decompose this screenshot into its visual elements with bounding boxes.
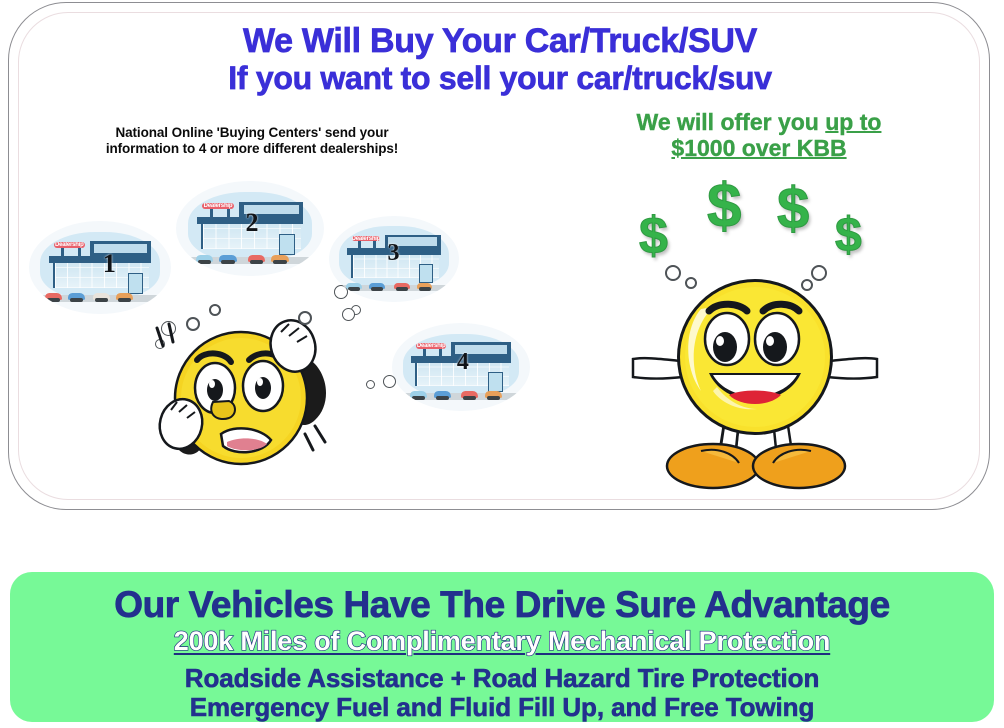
sign-post-right <box>439 347 442 357</box>
dealership-sign: Dealership <box>202 203 234 209</box>
dealership-sign: Dealership <box>352 236 380 241</box>
banner-benefits-line-2: Emergency Fuel and Fluid Fill Up, and Fr… <box>10 692 994 722</box>
drive-sure-advantage-banner: Our Vehicles Have The Drive Sure Advanta… <box>10 572 994 722</box>
dealership-bubble-4: Dealership 4 <box>392 323 530 411</box>
worried-emoji-svg <box>149 298 334 473</box>
sign-post-left <box>210 207 213 218</box>
thought-bubble-dot <box>342 308 355 321</box>
sign-post-left <box>358 240 361 250</box>
buying-centers-caption: National Online 'Buying Centers' send yo… <box>57 125 447 157</box>
sign-post-right <box>373 240 376 250</box>
dollar-sign-icon: $ <box>835 208 862 263</box>
dealership-bubble-number-1: 1 <box>103 249 116 279</box>
sign-post-left <box>423 347 426 357</box>
headline-line-1: We Will Buy Your Car/Truck/SUV <box>9 23 991 60</box>
dealership-bubble-number-3: 3 <box>388 240 400 267</box>
building-upper-glass <box>94 244 147 253</box>
happy-emoji-svg <box>605 261 905 491</box>
car <box>93 293 110 300</box>
sign-post-left <box>61 247 64 257</box>
dollar-sign-icon: $ <box>777 175 809 242</box>
dealership-bubble-3: Dealership 3 <box>329 216 459 302</box>
buying-centers-caption-line-1: National Online 'Buying Centers' send yo… <box>57 125 447 141</box>
dealership-bubble-number-2: 2 <box>246 208 259 238</box>
headline-line-2: If you want to sell your car/truck/suv <box>9 60 991 97</box>
dealership-sign: Dealership <box>54 242 85 248</box>
car <box>346 283 362 289</box>
offer-caption-line-2: $1000 over KBB <box>589 135 929 161</box>
car <box>45 293 62 300</box>
car <box>461 391 478 397</box>
buying-centers-caption-line-2: information to 4 or more different deale… <box>57 141 447 157</box>
car <box>68 293 85 300</box>
offer-caption-line-1-underlined: up to <box>825 109 881 135</box>
bubble-cars <box>43 291 157 300</box>
car <box>485 391 502 397</box>
car <box>196 255 214 262</box>
building-band <box>49 256 151 263</box>
car <box>116 293 133 300</box>
thought-bubble-dot <box>383 375 396 388</box>
car <box>219 255 237 262</box>
dealership-building: Dealership <box>49 241 151 293</box>
car <box>271 255 289 262</box>
page-title: We Will Buy Your Car/Truck/SUV If you wa… <box>9 23 991 97</box>
car <box>394 283 410 289</box>
car <box>417 283 433 289</box>
promo-top-panel: We Will Buy Your Car/Truck/SUV If you wa… <box>8 2 990 510</box>
worried-emoji <box>149 298 334 473</box>
car <box>248 255 266 262</box>
bubble-cars <box>342 281 446 290</box>
sign-post-right <box>227 207 230 218</box>
sign-post-right <box>78 247 81 257</box>
car <box>369 283 385 289</box>
dealership-bubble-number-4: 4 <box>457 349 469 376</box>
banner-protection-line: 200k Miles of Complimentary Mechanical P… <box>10 626 994 657</box>
car <box>410 391 427 397</box>
banner-headline: Our Vehicles Have The Drive Sure Advanta… <box>10 585 994 625</box>
dollar-sign-icon: $ <box>707 171 741 242</box>
car <box>434 391 451 397</box>
bubble-cars <box>191 252 309 262</box>
offer-caption-line-1: We will offer you up to <box>589 109 929 135</box>
banner-benefits-line-1: Roadside Assistance + Road Hazard Tire P… <box>10 663 994 693</box>
bubble-cars <box>406 389 516 398</box>
thought-bubble-dot <box>366 380 375 389</box>
offer-caption-line-1-plain: We will offer you <box>637 109 826 135</box>
happy-emoji <box>605 261 905 491</box>
dollar-sign-icon: $ <box>639 206 668 266</box>
dealership-sign: Dealership <box>416 343 446 348</box>
dealership-bubble-2: Dealership 2 <box>176 181 324 276</box>
offer-caption: We will offer you up to $1000 over KBB <box>589 109 929 161</box>
